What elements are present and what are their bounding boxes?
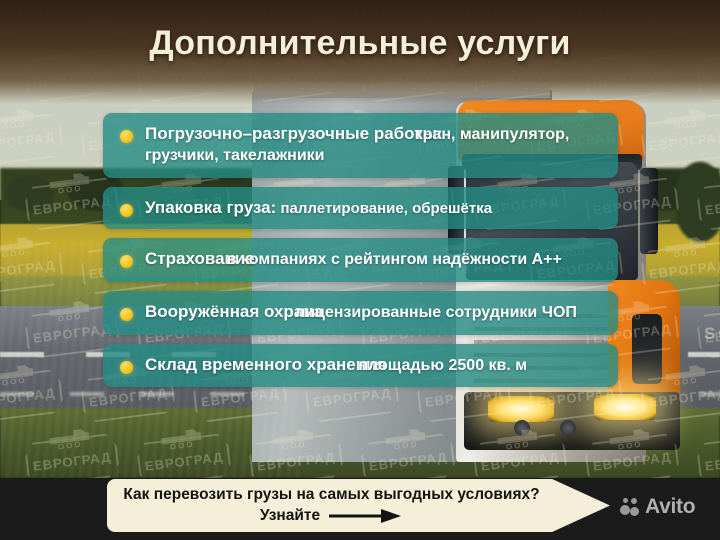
cta-action-row: Узнайте [260,507,403,525]
service-item: Склад временного храненияплощадью 2500 к… [103,344,618,388]
right-arrow-icon [329,508,403,524]
service-title: Погрузочно–разгрузочные работы: [145,124,443,143]
advertisement-banner: SCANIA P230 ОООЕВРОГРАДОООЕВРОГРАДОООЕВР… [0,0,720,540]
bullet-dot-icon [120,130,133,143]
watermark-line1: ООО [696,180,720,200]
cta-action-label: Узнайте [260,507,320,525]
watermark-badge: ОООЕВРОГРАД [0,369,64,424]
avito-dots-icon [620,498,640,516]
cta-banner[interactable]: Как перевозить грузы на самых выгодных у… [107,479,610,532]
watermark-badge: ОООЕВРОГРАД [640,241,720,296]
bullet-dot-icon [120,308,133,321]
service-item: Погрузочно–разгрузочные работы:кран, ман… [103,113,618,178]
service-detail: в компаниях с рейтингом надёжности А++ [227,251,562,268]
watermark-line1: ООО [696,436,720,456]
watermark-badge: ОООЕВРОГРАД [696,177,720,232]
service-item: Вооружённая охраналицензированные сотруд… [103,291,618,335]
service-detail: лицензированные сотрудники ЧОП [295,304,577,321]
service-detail: площадью 2500 кв. м [358,357,527,374]
page-title: Дополнительные услуги [0,24,720,63]
services-list: Погрузочно–разгрузочные работы:кран, ман… [103,113,618,396]
watermark-badge: ОООЕВРОГРАД [696,305,720,360]
service-title: Склад временного хранения [145,355,386,374]
cta-question: Как перевозить грузы на самых выгодных у… [123,486,539,504]
avito-logo: Avito [620,495,695,519]
watermark-badge: ОООЕВРОГРАД [0,113,64,168]
watermark-badge: ОООЕВРОГРАД [640,113,720,168]
service-item: Страхованиев компаниях с рейтингом надёж… [103,238,618,282]
service-item: Упаковка груза: паллетирование, обрешётк… [103,187,618,230]
watermark-line1: ООО [696,308,720,328]
service-detail: паллетирование, обрешётка [276,200,492,217]
watermark-badge: ОООЕВРОГРАД [0,241,64,296]
bullet-dot-icon [120,255,133,268]
bullet-dot-icon [120,204,133,217]
watermark-badge: ОООЕВРОГРАД [640,369,720,424]
bullet-dot-icon [120,361,133,374]
service-title: Упаковка груза: [145,198,276,217]
avito-wordmark: Avito [645,495,695,519]
